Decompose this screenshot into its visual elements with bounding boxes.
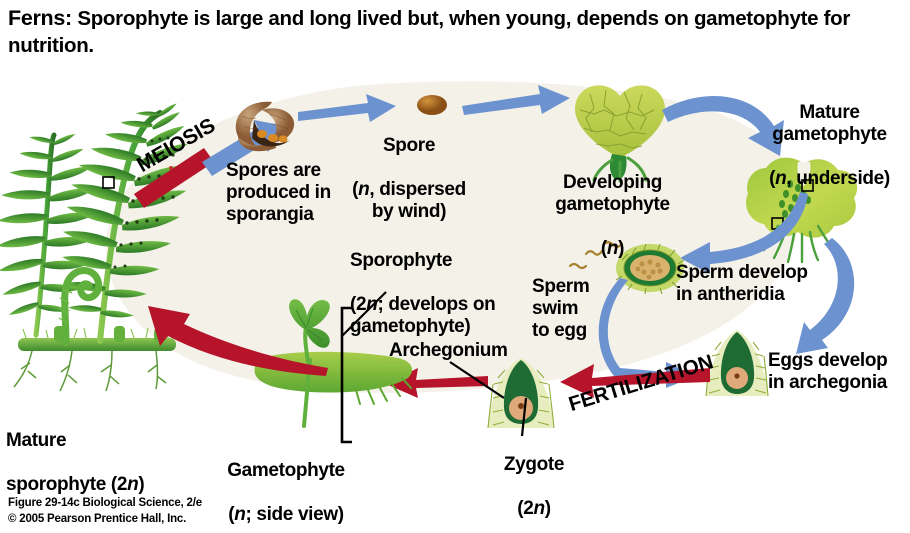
- label-gameto-side-n: n: [234, 504, 245, 525]
- label-zygote-line1: Zygote: [504, 454, 564, 475]
- label-mature-sporo-paren-close: ): [138, 474, 144, 495]
- sorus-marker-box: [103, 177, 114, 188]
- label-developing-n: n: [607, 238, 618, 259]
- label-zygote-n: n: [533, 498, 544, 519]
- page-title: Ferns: Sporophyte is large and long live…: [8, 4, 888, 59]
- label-sporophyte-paren-open: (2: [350, 294, 366, 315]
- label-gameto-side-line1: Gametophyte: [227, 460, 345, 481]
- label-zygote-paren-open: (2: [517, 498, 533, 519]
- label-sporophyte-n: n: [366, 294, 377, 315]
- label-eggs-develop-in-archegonia: Eggs develop in archegonia: [768, 350, 887, 394]
- label-zygote: Zygote (2n): [494, 432, 574, 520]
- label-spores-produced-in-sporangia: Spores are produced in sporangia: [226, 160, 331, 226]
- label-mature-gametophyte: Mature gametophyte (n, underside): [752, 80, 907, 190]
- sporangium-illustration: [232, 96, 304, 166]
- label-mature-sporo-line2: sporophyte (2: [6, 474, 127, 495]
- label-developing-gametophyte: Developing gametophyte (n): [525, 150, 700, 260]
- archegonium-leader-line: [446, 358, 516, 402]
- label-gameto-side-rest: ; side view): [246, 504, 344, 525]
- label-sperm-swim-to-egg: Sperm swim to egg: [532, 276, 589, 342]
- label-sporophyte-line1: Sporophyte: [350, 250, 452, 271]
- caption-line-2: © 2005 Pearson Prentice Hall, Inc.: [8, 511, 202, 527]
- label-mature-gameto-line2: , underside): [786, 168, 889, 189]
- label-mature-sporophyte: Mature sporophyte (2n): [6, 408, 144, 496]
- label-spore-line1: Spore: [383, 135, 435, 156]
- caption-line-1: Figure 29-14c Biological Science, 2/e: [8, 495, 202, 511]
- label-mature-sporo-line1: Mature: [6, 430, 66, 451]
- arrow-to-mature-sporophyte: [140, 296, 330, 376]
- label-mature-gameto-line1: Mature gametophyte: [772, 102, 886, 145]
- title-lead: Ferns:: [8, 6, 72, 30]
- label-zygote-paren-close: ): [545, 498, 551, 519]
- label-spore-n: n: [358, 179, 369, 200]
- label-mature-gameto-n: n: [775, 168, 786, 189]
- label-spore-line2: , dispersed by wind): [369, 179, 465, 222]
- title-rest: Sporophyte is large and long lived but, …: [8, 7, 850, 57]
- label-spore: Spore (n, dispersed by wind): [324, 113, 494, 223]
- label-sporophyte: Sporophyte (2n; develops on gametophyte): [350, 228, 495, 338]
- label-archegonium: Archegonium: [389, 340, 508, 362]
- figure-caption: Figure 29-14c Biological Science, 2/e © …: [8, 495, 202, 528]
- label-developing-paren-close: ): [618, 238, 624, 259]
- label-developing-line1: Developing gametophyte: [555, 172, 669, 215]
- label-sperm-develop-in-antheridia: Sperm develop in antheridia: [676, 262, 808, 306]
- label-mature-sporo-n: n: [127, 474, 138, 495]
- fern-life-cycle-diagram: Ferns: Sporophyte is large and long live…: [0, 0, 910, 533]
- label-gametophyte-side-view: Gametophyte (n; side view): [196, 438, 376, 526]
